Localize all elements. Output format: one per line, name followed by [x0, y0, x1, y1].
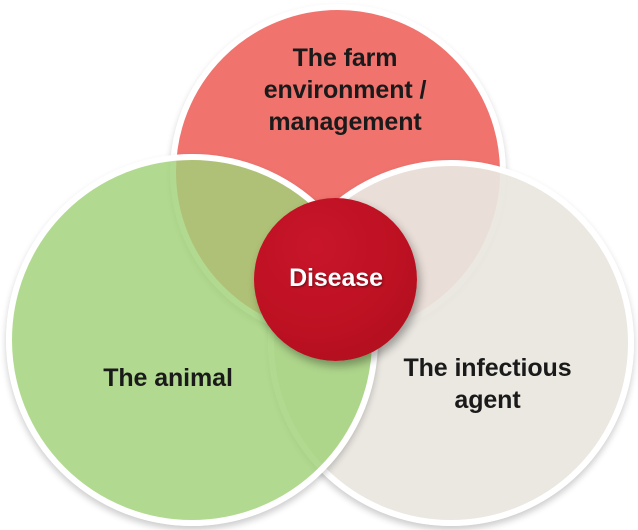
venn-diagram: The farm environment / management The an… [0, 0, 638, 530]
venn-label-infectious-agent: The infectious agent [370, 352, 605, 416]
venn-label-animal: The animal [58, 362, 278, 394]
venn-label-disease: Disease [262, 262, 410, 294]
venn-label-farm-environment: The farm environment / management [240, 42, 450, 138]
